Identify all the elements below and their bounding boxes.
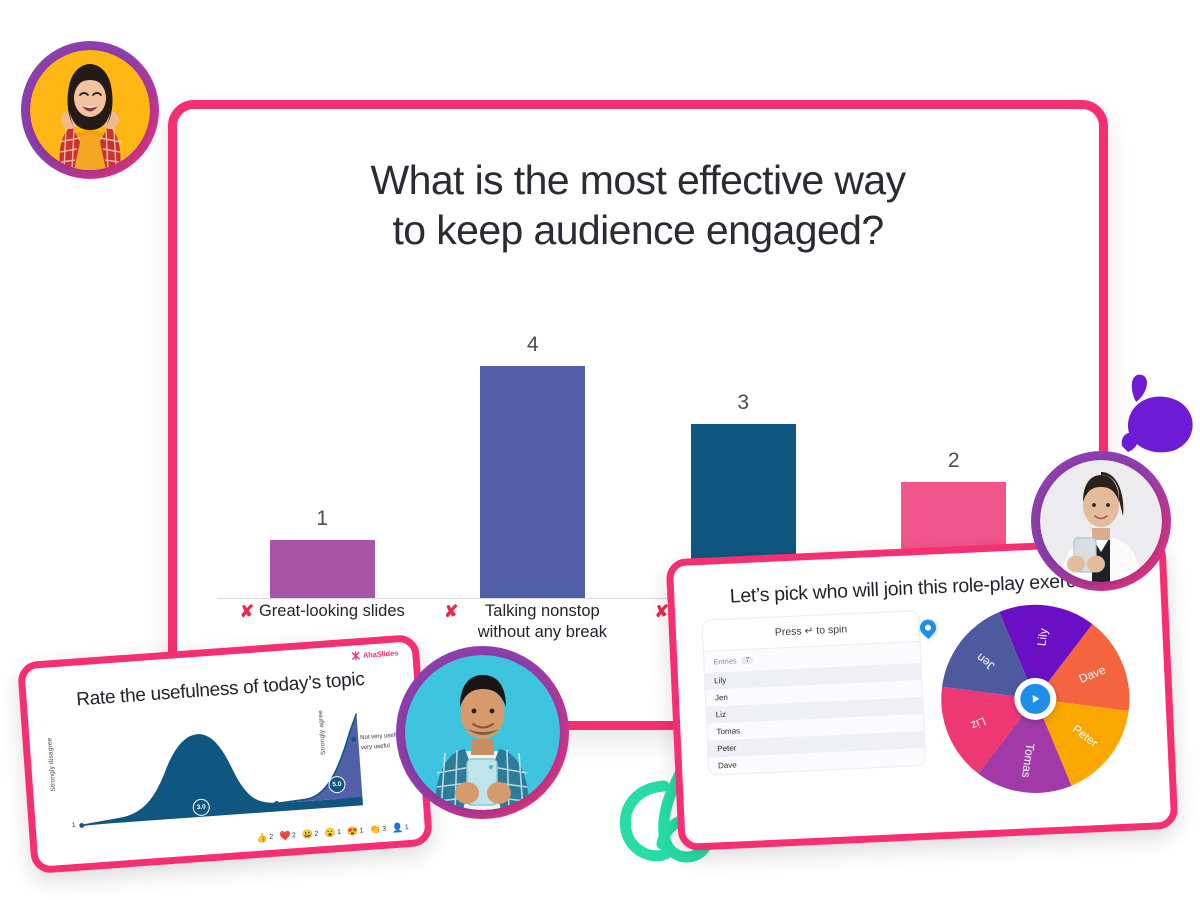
page-root: What is the most effective way to keep a… [0,0,1200,900]
reaction-item[interactable]: ❤️2 [279,831,296,841]
play-icon [1020,683,1051,714]
bar-value-label: 4 [527,333,539,357]
spinner-wheel[interactable]: LilyDavePeterTomasLizJen [933,597,1138,802]
rating-distribution-chart: Strongly disagree Strongly agree Not ver… [42,698,409,835]
avatar-image [30,50,150,170]
bar-column: 1 [230,507,415,598]
axis-label-low: Strongly disagree [46,737,57,791]
avatar-image [405,655,560,810]
bar-rect [480,366,585,598]
cross-mark-icon: ✘ [240,601,254,622]
reaction-item[interactable]: 👍2 [256,833,273,843]
avatar-man-with-phone [405,655,560,810]
reaction-emoji-icon: 😃 [302,830,314,840]
ahaslides-logo: AhaSlides [351,648,399,660]
scale-min-label: 1 [71,822,75,829]
bar-category-text: Great-looking slides [259,601,405,622]
reaction-count: 1 [359,827,363,834]
bar-column: 4 [440,333,625,598]
wheel-segment-label: Lily [1035,628,1050,647]
avatar-cheering-woman [30,50,150,170]
entries-panel: Press ↵ to spin Entries 7 LilyJenLizToma… [701,610,926,776]
ahaslides-logo-text: AhaSlides [363,648,399,660]
bar-category-label: ✘Talking nonstop without any break [440,601,625,643]
entries-count-badge: 7 [741,657,753,665]
reaction-count: 3 [382,826,386,833]
reaction-emoji-icon: 😮 [324,828,336,838]
legend-color-dot [351,736,356,741]
reaction-item[interactable]: 😮1 [324,828,341,838]
title-line-2: to keep audience engaged? [392,207,883,253]
bar-value-label: 2 [948,449,960,473]
reaction-count: 1 [337,829,341,836]
bar-rect [270,540,375,598]
reaction-count: 2 [314,831,318,838]
reaction-item[interactable]: 😍1 [347,826,364,836]
reaction-emoji-icon: 👏 [369,825,381,835]
ahaslides-mark-icon [351,651,361,661]
bar-value-label: 1 [316,507,328,531]
reaction-counts-bar[interactable]: 👍2❤️2😃2😮1😍1👏3👤1 [256,823,409,843]
reaction-count: 2 [292,832,296,839]
avatar-image [1040,460,1162,582]
cross-mark-icon: ✘ [444,601,458,622]
reaction-item[interactable]: 👤1 [392,823,409,833]
rating-slide-card[interactable]: AhaSlides Rate the usefulness of today’s… [17,634,433,874]
page-title: What is the most effective way to keep a… [288,155,988,256]
bar-category-text: Talking nonstop without any break [463,601,621,643]
legend-color-dot [352,746,357,751]
reaction-item[interactable]: 😃2 [302,830,319,840]
bar-value-label: 3 [737,391,749,415]
entries-label: Entries [713,656,737,666]
purple-blob-decoration [1098,368,1200,464]
reaction-emoji-icon: 👤 [392,823,404,833]
avatar-woman-with-phone [1040,460,1162,582]
reaction-emoji-icon: ❤️ [279,832,291,842]
reaction-emoji-icon: 😍 [347,827,359,837]
reaction-count: 1 [405,824,409,831]
reaction-item[interactable]: 👏3 [369,825,386,835]
reaction-emoji-icon: 👍 [256,833,268,843]
entries-list[interactable]: LilyJenLizTomasPeterDave [705,663,925,775]
reaction-count: 2 [269,834,273,841]
title-line-1: What is the most effective way [371,157,906,203]
